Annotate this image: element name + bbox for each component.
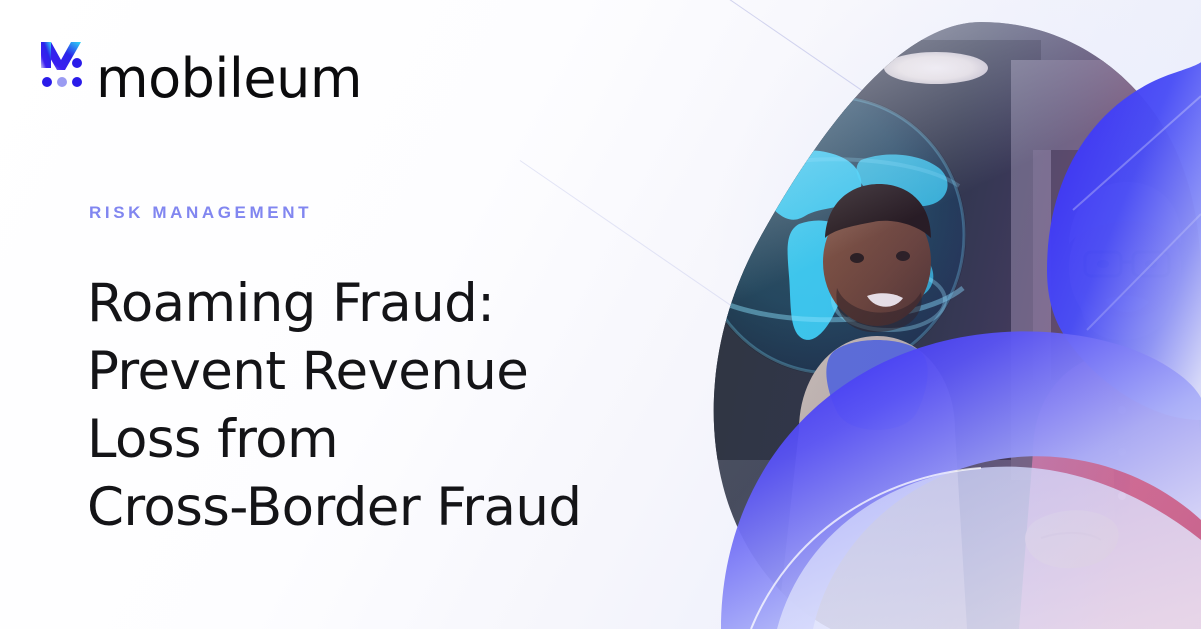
mobileum-wordmark: mobileum bbox=[96, 52, 362, 106]
page-title: Roaming Fraud: Prevent Revenue Loss from… bbox=[87, 270, 707, 542]
hero-artwork bbox=[681, 0, 1201, 629]
category-eyebrow: RISK MANAGEMENT bbox=[89, 203, 312, 223]
marketing-banner: mobileum RISK MANAGEMENT Roaming Fraud: … bbox=[0, 0, 1201, 629]
mobileum-logo[interactable]: mobileum bbox=[38, 36, 362, 90]
mobileum-m-icon bbox=[38, 38, 88, 90]
